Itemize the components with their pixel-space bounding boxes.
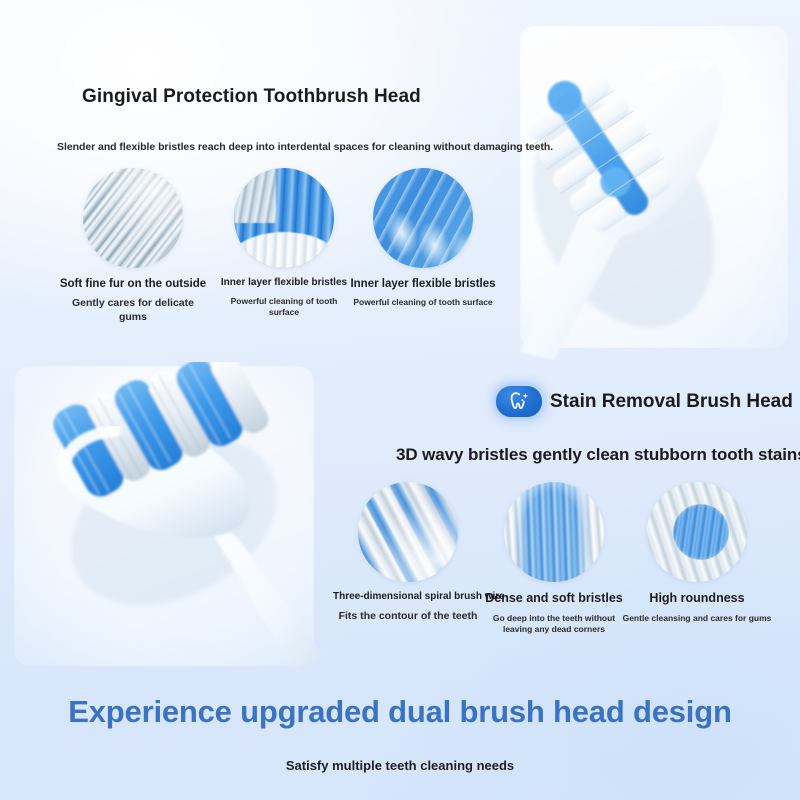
spiral-brush-wire-macro-icon [358,482,458,582]
feature-caption: High roundness [622,591,772,607]
feature-card: Inner layer flexible bristles Powerful c… [348,168,498,308]
feature-caption: Dense and soft bristles [479,591,629,607]
section-two-title: Stain Removal Brush Head [550,391,793,413]
footer-slogan: Experience upgraded dual brush head desi… [0,694,800,730]
feature-detail: Go deep into the teeth without leaving a… [479,613,629,635]
feature-card: Inner layer flexible bristles Powerful c… [209,168,359,318]
feature-card: Soft fine fur on the outside Gently care… [58,168,208,325]
product-infographic: Gingival Protection Toothbrush Head Slen… [0,0,800,800]
section-one-subtitle: Slender and flexible bristles reach deep… [57,141,553,153]
footer-sub-slogan: Satisfy multiple teeth cleaning needs [0,758,800,773]
feature-caption: Inner layer flexible bristles [209,277,359,290]
feature-card: Dense and soft bristles Go deep into the… [479,482,629,635]
tooth-sparkle-icon [496,386,542,417]
feature-card: Three-dimensional spiral brush wire Fits… [333,482,483,623]
high-roundness-bristles-macro-icon [647,482,747,582]
blue-bristles-white-tips-macro-icon [234,168,334,268]
section-one-title: Gingival Protection Toothbrush Head [82,86,421,108]
feature-caption: Three-dimensional spiral brush wire [333,591,483,604]
feature-detail: Powerful cleaning of tooth surface [348,297,498,308]
feature-detail: Fits the contour of the teeth [333,610,483,624]
feature-card: High roundness Gentle cleansing and care… [622,482,772,624]
dense-soft-bristles-macro-icon [504,482,604,582]
feature-caption: Inner layer flexible bristles [348,277,498,291]
rounded-blue-bristle-tips-macro-icon [373,168,473,268]
gray-filament-macro-icon [83,168,183,268]
stain-removal-brush-head-photo [24,362,344,672]
section-two-subtitle: 3D wavy bristles gently clean stubborn t… [396,445,800,465]
feature-detail: Gently cares for delicate gums [58,297,208,324]
gingival-brush-head-photo [498,8,798,368]
feature-detail: Gentle cleansing and cares for gums [622,613,772,624]
feature-caption: Soft fine fur on the outside [58,277,208,291]
stain-removal-badge-row: Stain Removal Brush Head [496,386,793,417]
feature-detail: Powerful cleaning of tooth surface [209,296,359,318]
